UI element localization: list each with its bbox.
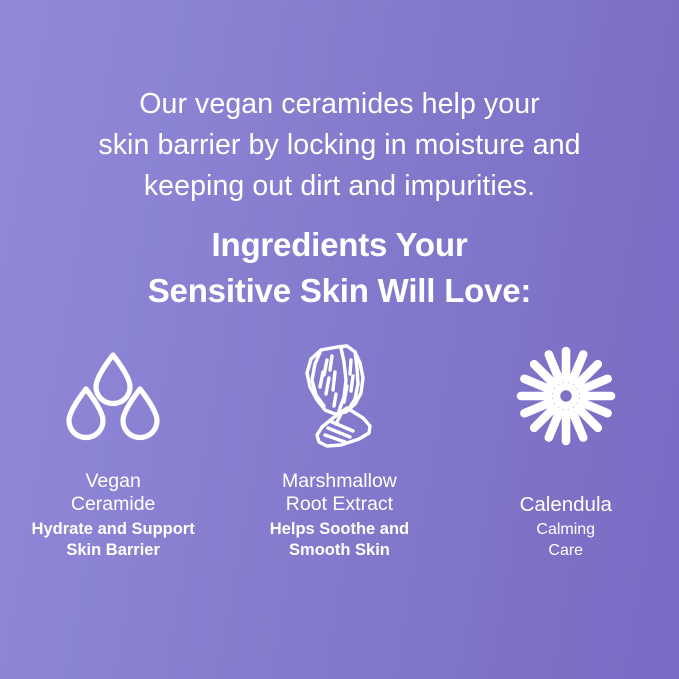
marshmallow-root-icon <box>289 340 389 452</box>
intro-paragraph: Our vegan ceramides help your skin barri… <box>0 84 679 207</box>
ingredient-title: Marshmallow Root Extract <box>282 470 397 516</box>
ingredient-title: Calendula <box>520 470 612 516</box>
ingredient-description: Helps Soothe and Smooth Skin <box>270 519 409 561</box>
ingredients-infographic: Our vegan ceramides help your skin barri… <box>0 0 679 679</box>
ingredient-item-calendula: Calendula Calming Care <box>453 340 679 561</box>
water-drops-icon <box>61 340 165 452</box>
ingredient-item-vegan-ceramide: Vegan Ceramide Hydrate and Support Skin … <box>0 340 226 561</box>
ingredient-item-marshmallow-root: Marshmallow Root Extract Helps Soothe an… <box>226 340 452 561</box>
ingredient-title: Vegan Ceramide <box>71 470 156 516</box>
calendula-flower-icon <box>516 340 616 452</box>
ingredient-description: Hydrate and Support Skin Barrier <box>32 519 195 561</box>
ingredient-description: Calming Care <box>536 519 595 561</box>
ingredient-list: Vegan Ceramide Hydrate and Support Skin … <box>0 340 679 561</box>
page-title: Ingredients Your Sensitive Skin Will Lov… <box>0 222 679 314</box>
